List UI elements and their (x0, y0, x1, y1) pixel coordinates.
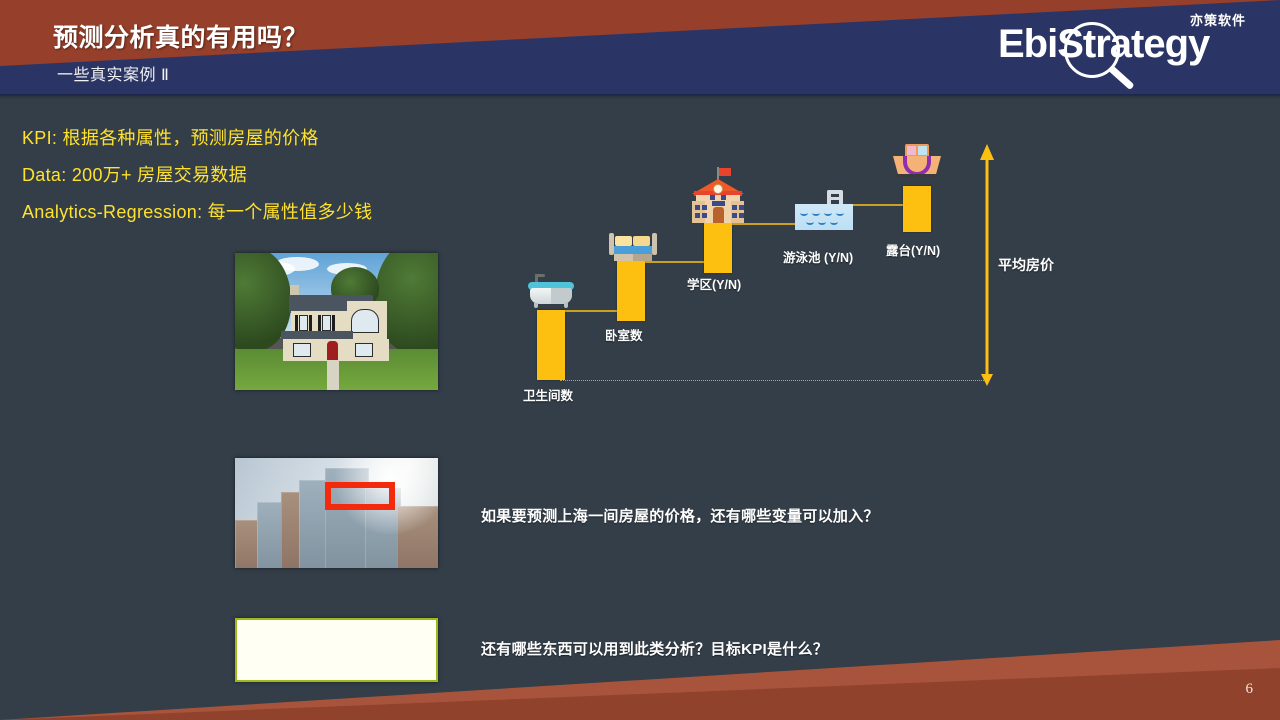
chart-connector (565, 310, 617, 312)
bathtub-tap-icon (535, 274, 545, 277)
balcony-icon (893, 144, 941, 186)
balcony-glass-pane (907, 146, 916, 155)
bed-footboard (652, 233, 657, 255)
pool-ladder-rail (827, 190, 831, 208)
footer-decoration (0, 610, 1280, 720)
school-window (702, 205, 707, 210)
chart-label-school: 学区(Y/N) (687, 274, 741, 293)
company-logo: 亦策软件 EbiStrategy (998, 6, 1248, 84)
balcony-mullion (916, 146, 918, 166)
photo-window (355, 343, 373, 357)
photo-shutter (332, 315, 335, 331)
bathtub-body-shade (551, 288, 572, 304)
balcony-mullion (907, 155, 927, 157)
balcony-floor (896, 174, 938, 178)
chart-label-bedrooms: 卧室数 (605, 325, 643, 344)
page-title: 预测分析真的有用吗？ (53, 18, 308, 54)
chart-bar-bathrooms (537, 310, 565, 380)
bed-blanket (614, 246, 652, 254)
school-window (702, 213, 707, 218)
balcony-ledge (893, 156, 941, 178)
school-window (732, 213, 737, 218)
balcony-window-frame (905, 144, 929, 168)
house-price-waterfall-chart: 卫生间数 卧室数 学区(Y/N) 游泳池 (Y/N) 露台(Y/N) 平均房价 (0, 0, 1280, 720)
chart-baseline (560, 380, 988, 381)
pool-wave (830, 219, 838, 225)
pool-wave (806, 219, 814, 225)
balcony-railing (903, 156, 931, 176)
blank-white-box (235, 618, 438, 682)
school-window (739, 213, 744, 218)
balcony-glass-pane (907, 157, 916, 166)
bathtub-leg (564, 303, 568, 308)
pool-ladder-rail (839, 190, 843, 208)
school-clock-icon (713, 184, 723, 194)
school-flagpole (717, 167, 719, 181)
photo-shutter (309, 315, 312, 331)
pool-ladder-top (827, 190, 843, 194)
bed-pillow (633, 236, 650, 246)
bed-mattress-shade (633, 254, 652, 261)
pool-ladder-step (827, 197, 843, 200)
pool-wave (818, 219, 826, 225)
chart-connector (732, 223, 795, 225)
photo-shutter (295, 315, 298, 331)
average-price-arrow-icon (976, 144, 998, 386)
photo-window (299, 315, 308, 331)
school-door-header (712, 201, 725, 206)
school-window (710, 195, 715, 200)
red-highlight-box (325, 482, 395, 510)
slide-canvas: 预测分析真的有用吗？ 一些真实案例 Ⅱ 亦策软件 EbiStrategy KPI… (0, 0, 1280, 720)
question-text-1: 如果要预测上海一间房屋的价格，还有哪些变量可以加入？ (481, 505, 879, 526)
bathtub-icon (528, 274, 574, 310)
pool-wave (800, 210, 808, 216)
school-door (713, 207, 724, 223)
school-roof (692, 179, 744, 194)
pool-water (795, 204, 853, 230)
balcony-glass-pane (918, 146, 927, 155)
school-window (739, 205, 744, 210)
chart-bar-balcony (903, 186, 931, 232)
bathtub-leg (534, 303, 538, 308)
page-subtitle: 一些真实案例 Ⅱ (57, 61, 169, 85)
chart-label-bathrooms: 卫生间数 (523, 385, 573, 404)
apartment-photo (235, 458, 438, 568)
header-shadow (0, 94, 1280, 99)
school-window (721, 195, 726, 200)
bed-pillow (615, 236, 632, 246)
bed-icon (609, 233, 657, 261)
pool-wave (836, 210, 844, 216)
school-roof-edge (694, 191, 742, 196)
photo-shutter (318, 315, 321, 331)
school-window (732, 205, 737, 210)
school-window (695, 205, 700, 210)
chart-bar-bedrooms (617, 261, 645, 321)
photo-window (293, 343, 311, 357)
chart-axis-label: 平均房价 (998, 255, 1054, 275)
chart-connector (853, 204, 903, 206)
chart-bar-school (704, 223, 732, 273)
school-window (695, 213, 700, 218)
bed-mattress (614, 254, 652, 261)
balcony-glass-pane (918, 157, 927, 166)
school-wing (731, 201, 744, 223)
photo-arched-window (351, 309, 379, 333)
page-number: 6 (1246, 681, 1254, 698)
bathtub-tap-icon (535, 274, 538, 286)
kpi-line-2: Data: 200万+ 房屋交易数据 (22, 161, 247, 187)
bed-headboard (609, 233, 614, 255)
school-flag (719, 168, 731, 176)
chart-connector (645, 261, 704, 263)
chart-label-pool: 游泳池 (Y/N) (783, 247, 853, 266)
chart-label-balcony: 露台(Y/N) (886, 240, 940, 259)
kpi-line-1: KPI: 根据各种属性，预测房屋的价格 (22, 124, 319, 150)
footer-band-dark (0, 610, 1280, 720)
bathtub-body (530, 288, 572, 304)
question-text-2: 还有哪些东西可以用到此类分析？目标KPI是什么？ (481, 638, 828, 659)
photo-door (327, 341, 338, 361)
school-icon (692, 167, 744, 223)
swimming-pool-icon (795, 190, 853, 230)
photo-window (322, 315, 331, 331)
pool-wave (824, 210, 832, 216)
balcony-window-glass (907, 146, 927, 166)
bathtub-rim (528, 282, 574, 290)
kpi-line-3: Analytics-Regression: 每一个属性值多少钱 (22, 198, 372, 224)
pool-wave (812, 210, 820, 216)
footer-band-light (0, 610, 1280, 720)
photo-walkway (327, 360, 339, 390)
house-photo (235, 253, 438, 390)
school-building-body (696, 195, 740, 223)
school-wing (692, 201, 705, 223)
